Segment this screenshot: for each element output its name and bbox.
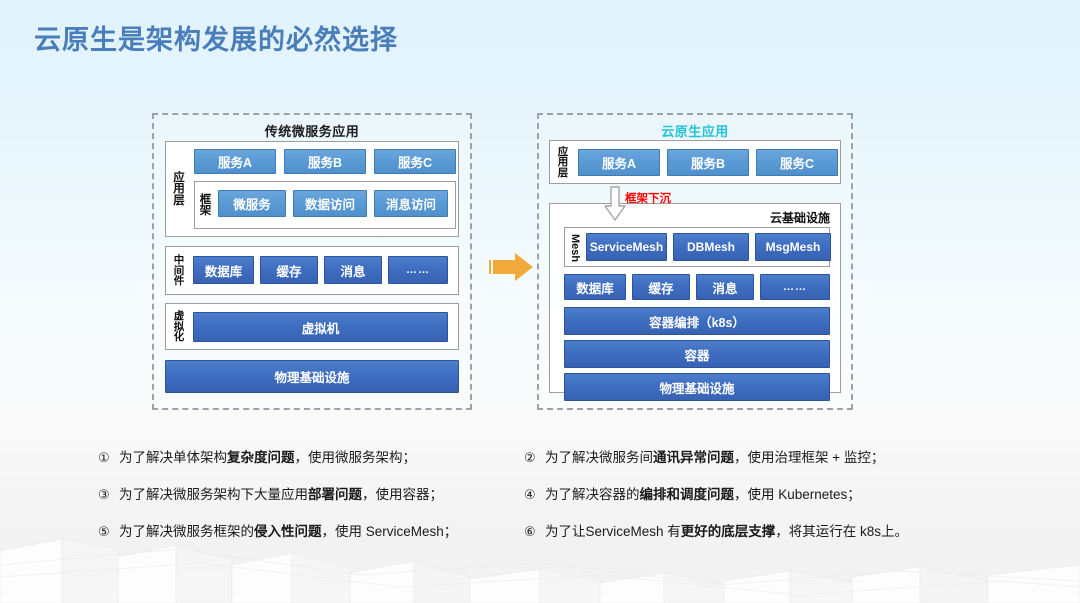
bullet-column-left: ① 为了解决单体架构复杂度问题，使用微服务架构； ③ 为了解决微服务架构下大量应… xyxy=(98,450,528,562)
framework-message-access-chip[interactable]: 消息访问 xyxy=(374,190,448,217)
right-panel-title: 云原生应用 xyxy=(539,121,851,140)
bullet-item: ② 为了解决微服务间通讯异常问题，使用治理框架 + 监控； xyxy=(524,450,974,466)
framework-group: 框 架 微服务 数据访问 消息访问 xyxy=(194,181,456,229)
service-a-chip[interactable]: 服务A xyxy=(194,149,276,174)
cloud-service-c-chip[interactable]: 服务C xyxy=(756,149,838,176)
left-panel-title: 传统微服务应用 xyxy=(154,121,470,140)
msg-mesh-chip[interactable]: MsgMesh xyxy=(755,233,831,261)
app-layer-label: 应 用 层 xyxy=(169,150,189,230)
bullet-number: ⑤ xyxy=(98,524,119,540)
bullet-number: ⑥ xyxy=(524,524,545,540)
page-title: 云原生是架构发展的必然选择 xyxy=(34,18,398,57)
bullet-text: 为了解决微服务架构下大量应用部署问题，使用容器； xyxy=(119,487,443,503)
middleware-more-chip[interactable]: …… xyxy=(388,256,448,284)
traditional-architecture-panel: 传统微服务应用 应 用 层 服务A 服务B 服务C 框 架 微服务 数据访问 消… xyxy=(152,113,472,410)
bullet-text: 为了解决微服务间通讯异常问题，使用治理框架 + 监控； xyxy=(545,450,884,466)
cloud-service-a-chip[interactable]: 服务A xyxy=(578,149,660,176)
middleware-cache-chip[interactable]: 缓存 xyxy=(260,256,318,284)
arrow-down-icon xyxy=(603,186,627,227)
bullet-item: ④ 为了解决容器的编排和调度问题，使用 Kubernetes； xyxy=(524,487,974,503)
container-chip[interactable]: 容器 xyxy=(564,340,830,368)
cloud-middleware-cache-chip[interactable]: 缓存 xyxy=(632,274,690,300)
service-c-chip[interactable]: 服务C xyxy=(374,149,456,174)
bullet-text: 为了解决容器的编排和调度问题，使用 Kubernetes； xyxy=(545,487,861,503)
cloud-native-architecture-panel: 云原生应用 应 用 层 服务A 服务B 服务C 云基础设施 Mesh Servi… xyxy=(537,113,853,410)
bullet-text: 为了解决单体架构复杂度问题，使用微服务架构； xyxy=(119,450,416,466)
cloud-app-layer-label: 应 用 层 xyxy=(553,144,573,181)
bullet-text: 为了解决微服务框架的侵入性问题，使用 ServiceMesh； xyxy=(119,524,457,540)
framework-microservice-chip[interactable]: 微服务 xyxy=(218,190,286,217)
bullet-number: ② xyxy=(524,450,545,466)
framework-label: 框 架 xyxy=(197,189,214,223)
cloud-service-b-chip[interactable]: 服务B xyxy=(667,149,749,176)
mesh-group: Mesh ServiceMesh DBMesh MsgMesh xyxy=(564,227,830,267)
virtualization-group: 虚 拟 化 虚拟机 xyxy=(165,303,459,350)
middleware-message-chip[interactable]: 消息 xyxy=(324,256,382,284)
bullet-number: ④ xyxy=(524,487,545,503)
virtualization-label: 虚 拟 化 xyxy=(169,307,189,347)
framework-data-access-chip[interactable]: 数据访问 xyxy=(293,190,367,217)
db-mesh-chip[interactable]: DBMesh xyxy=(673,233,749,261)
cloud-infrastructure-group: 云基础设施 Mesh ServiceMesh DBMesh MsgMesh 数据… xyxy=(549,203,841,393)
bullet-item: ⑥ 为了让ServiceMesh 有更好的底层支撑，将其运行在 k8s上。 xyxy=(524,524,974,540)
mesh-label: Mesh xyxy=(567,231,582,265)
bullet-number: ③ xyxy=(98,487,119,503)
cloud-physical-infrastructure-chip[interactable]: 物理基础设施 xyxy=(564,373,830,401)
cloud-infrastructure-label: 云基础设施 xyxy=(770,209,830,226)
cloud-middleware-more-chip[interactable]: …… xyxy=(760,274,830,300)
middleware-label: 中 间 件 xyxy=(169,251,189,291)
service-mesh-chip[interactable]: ServiceMesh xyxy=(586,233,667,261)
bullet-number: ① xyxy=(98,450,119,466)
physical-infrastructure-chip[interactable]: 物理基础设施 xyxy=(165,360,459,393)
virtual-machine-chip[interactable]: 虚拟机 xyxy=(193,312,448,342)
service-b-chip[interactable]: 服务B xyxy=(284,149,366,174)
bullet-item: ① 为了解决单体架构复杂度问题，使用微服务架构； xyxy=(98,450,528,466)
application-layer-group: 应 用 层 服务A 服务B 服务C 框 架 微服务 数据访问 消息访问 xyxy=(165,141,459,237)
middleware-group: 中 间 件 数据库 缓存 消息 …… xyxy=(165,246,459,295)
bullet-item: ③ 为了解决微服务架构下大量应用部署问题，使用容器； xyxy=(98,487,528,503)
bullet-item: ⑤ 为了解决微服务框架的侵入性问题，使用 ServiceMesh； xyxy=(98,524,528,540)
cloud-application-layer-group: 应 用 层 服务A 服务B 服务C xyxy=(549,140,841,184)
cloud-middleware-message-chip[interactable]: 消息 xyxy=(696,274,754,300)
arrow-right-icon xyxy=(487,250,535,289)
bullet-text: 为了让ServiceMesh 有更好的底层支撑，将其运行在 k8s上。 xyxy=(545,524,908,540)
middleware-database-chip[interactable]: 数据库 xyxy=(193,256,254,284)
framework-sink-note: 框架下沉 xyxy=(625,190,671,206)
container-orchestration-chip[interactable]: 容器编排（k8s） xyxy=(564,307,830,335)
cloud-middleware-database-chip[interactable]: 数据库 xyxy=(564,274,626,300)
bullet-column-right: ② 为了解决微服务间通讯异常问题，使用治理框架 + 监控； ④ 为了解决容器的编… xyxy=(524,450,974,562)
